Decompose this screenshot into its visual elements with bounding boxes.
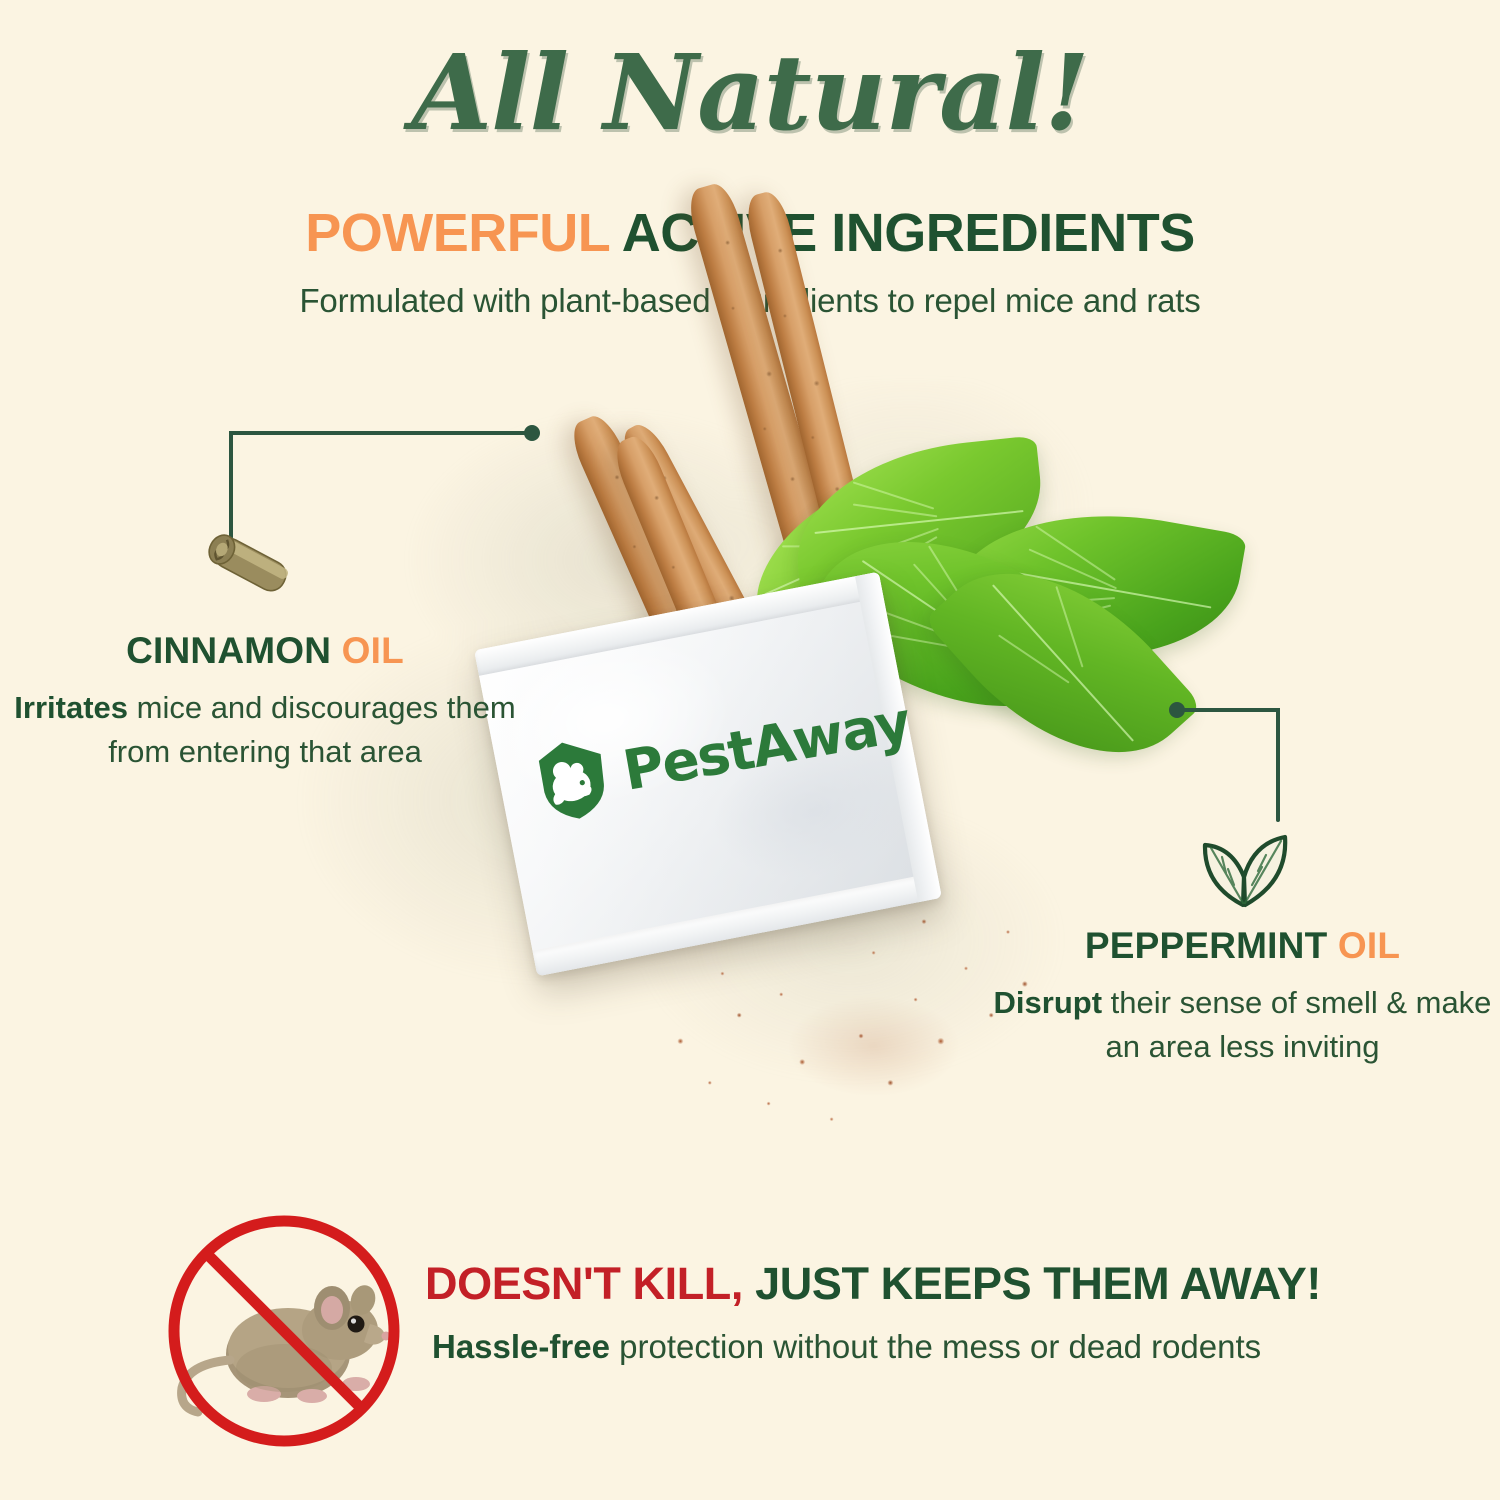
- bottom-headline-rest: JUST KEEPS THEM AWAY!: [743, 1258, 1321, 1309]
- bottom-subtext-rest: protection without the mess or dead rode…: [610, 1328, 1261, 1365]
- callout-title-cinnamon: CINNAMON OIL: [0, 630, 530, 672]
- connector-line-peppermint: [1168, 700, 1298, 825]
- callout-title-suffix: OIL: [1338, 925, 1400, 966]
- callout-cinnamon-oil: CINNAMON OIL Irritates mice and discoura…: [0, 630, 530, 774]
- bottom-subtext-emphasis: Hassle-free: [432, 1328, 610, 1365]
- callout-title-peppermint: PEPPERMINT OIL: [985, 925, 1500, 967]
- callout-peppermint-oil: PEPPERMINT OIL Disrupt their sense of sm…: [985, 925, 1500, 1069]
- leaf-vein: [1056, 586, 1084, 667]
- brand-logo: PestAway: [528, 681, 916, 828]
- callout-desc-emphasis: Irritates: [14, 690, 128, 725]
- bottom-headline: DOESN'T KILL, JUST KEEPS THEM AWAY!: [425, 1258, 1321, 1310]
- mint-leaf-icon: [1192, 815, 1298, 911]
- bottom-headline-emphasis: DOESN'T KILL,: [425, 1258, 743, 1309]
- callout-title-main: CINNAMON: [126, 630, 331, 671]
- callout-desc-emphasis: Disrupt: [994, 985, 1103, 1020]
- callout-desc-rest: mice and discourages them from entering …: [108, 690, 516, 769]
- infographic-canvas: All Natural! POWERFUL ACTIVE INGREDIENTS…: [0, 0, 1500, 1500]
- callout-title-suffix: OIL: [342, 630, 404, 671]
- leaf-vein: [1035, 526, 1115, 581]
- brand-name: PestAway: [619, 694, 913, 798]
- callout-desc-rest: their sense of smell & make an area less…: [1102, 985, 1491, 1064]
- callout-desc-peppermint: Disrupt their sense of smell & make an a…: [985, 981, 1500, 1069]
- shield-mouse-icon: [528, 733, 619, 827]
- callout-title-main: PEPPERMINT: [1085, 925, 1328, 966]
- page-title-emphasis: POWERFUL: [305, 203, 609, 263]
- bottom-subtext: Hassle-free protection without the mess …: [432, 1328, 1261, 1366]
- callout-desc-cinnamon: Irritates mice and discourages them from…: [0, 686, 530, 774]
- no-mouse-prohibition-icon: [160, 1212, 408, 1450]
- cinnamon-stick-icon: [196, 520, 306, 610]
- page-script-title: All Natural!: [0, 38, 1500, 147]
